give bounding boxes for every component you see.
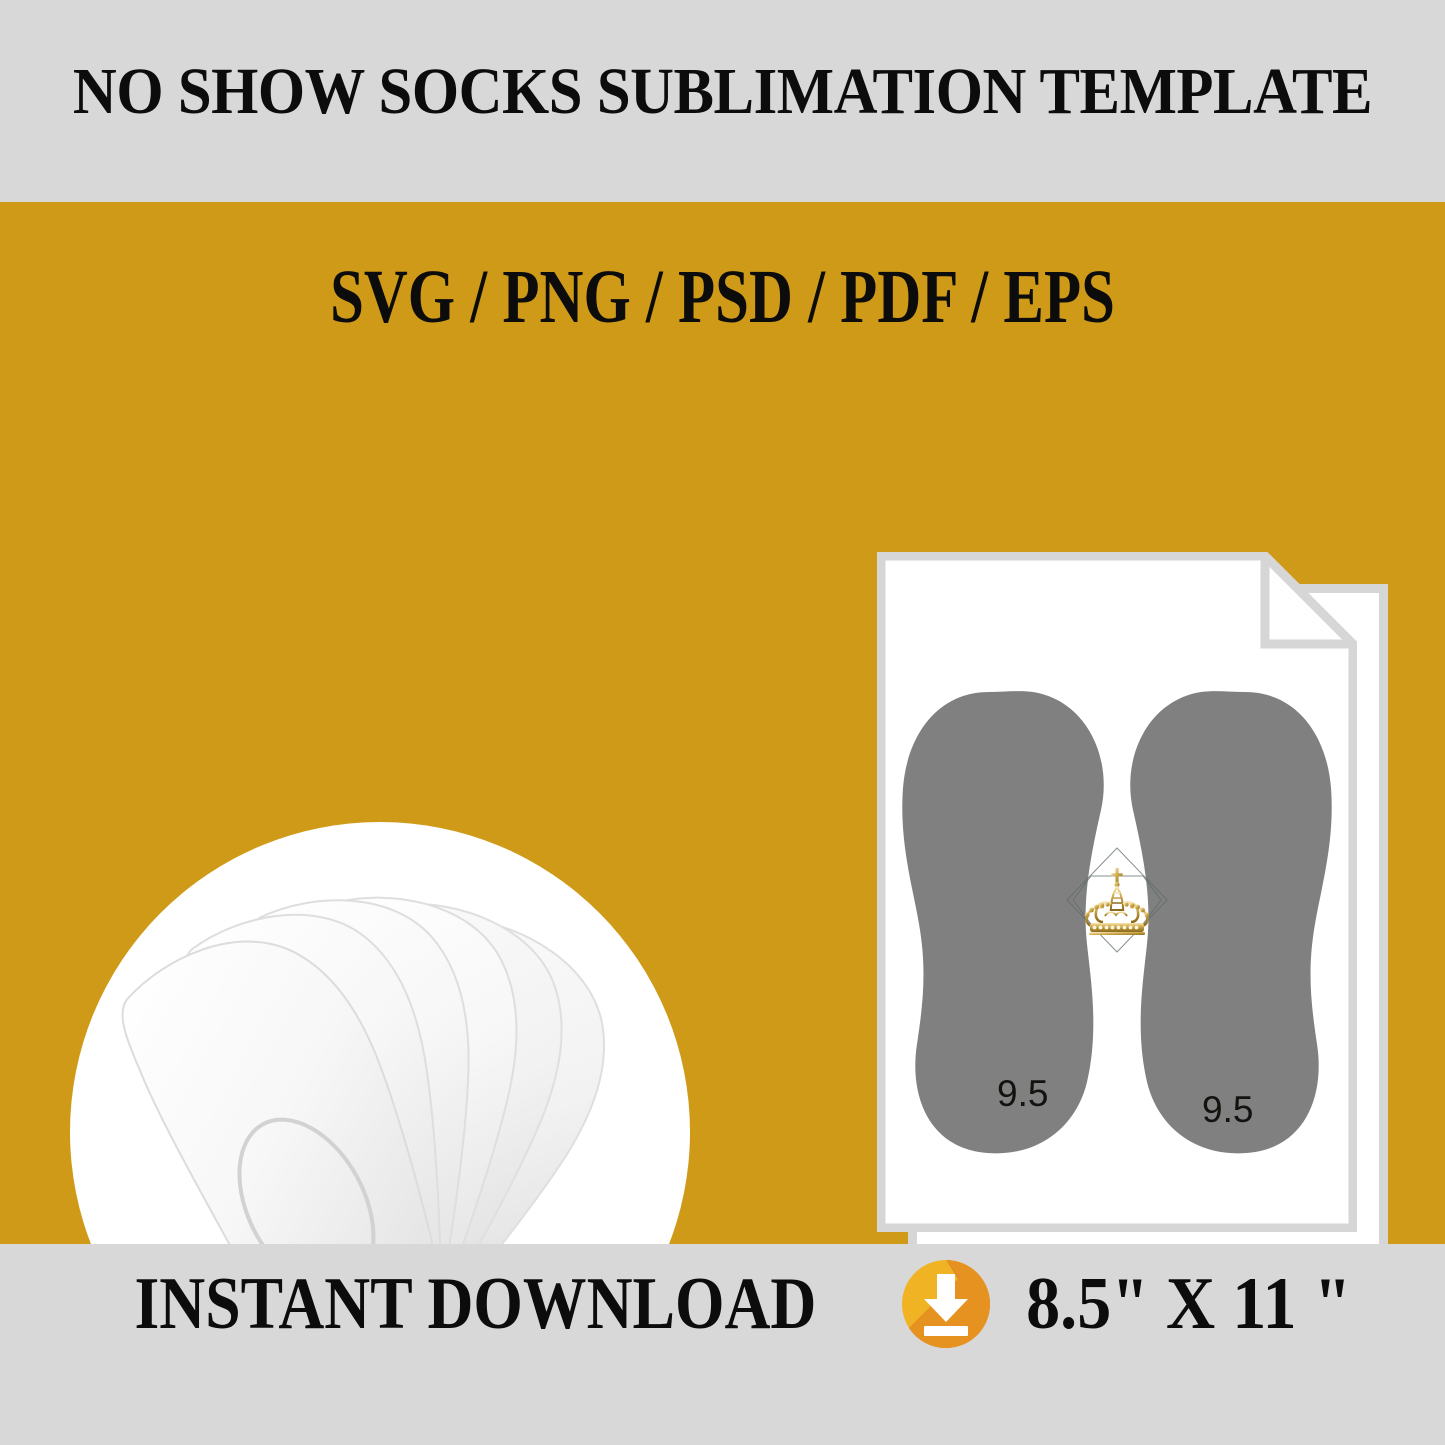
download-icon[interactable] [900, 1258, 992, 1350]
crown-watermark [1057, 840, 1177, 960]
watermark-frame [1067, 848, 1167, 952]
sock-size-label-left: 9.5 [997, 1074, 1048, 1114]
template-page-front: 9.5 9.5 [877, 552, 1357, 1232]
crown-icon [1085, 868, 1150, 935]
product-photo [70, 822, 690, 1244]
header-band: NO SHOW SOCKS SUBLIMATION TEMPLATE [0, 0, 1445, 202]
listing-image: NO SHOW SOCKS SUBLIMATION TEMPLATE SVG /… [0, 0, 1445, 1445]
dimensions-label: 8.5" X 11 " [1026, 1258, 1351, 1350]
instant-download-label: INSTANT DOWNLOAD [135, 1258, 817, 1350]
footer-band: INSTANT DOWNLOAD 8.5" X 11 " [0, 1244, 1445, 1445]
main-panel: SVG / PNG / PSD / PDF / EPS [0, 202, 1445, 1244]
file-formats-label: SVG / PNG / PSD / PDF / EPS [145, 254, 1301, 340]
sock-size-label-right: 9.5 [1202, 1090, 1253, 1130]
page-title: NO SHOW SOCKS SUBLIMATION TEMPLATE [58, 53, 1387, 131]
socks-photo-illustration [70, 822, 690, 1244]
